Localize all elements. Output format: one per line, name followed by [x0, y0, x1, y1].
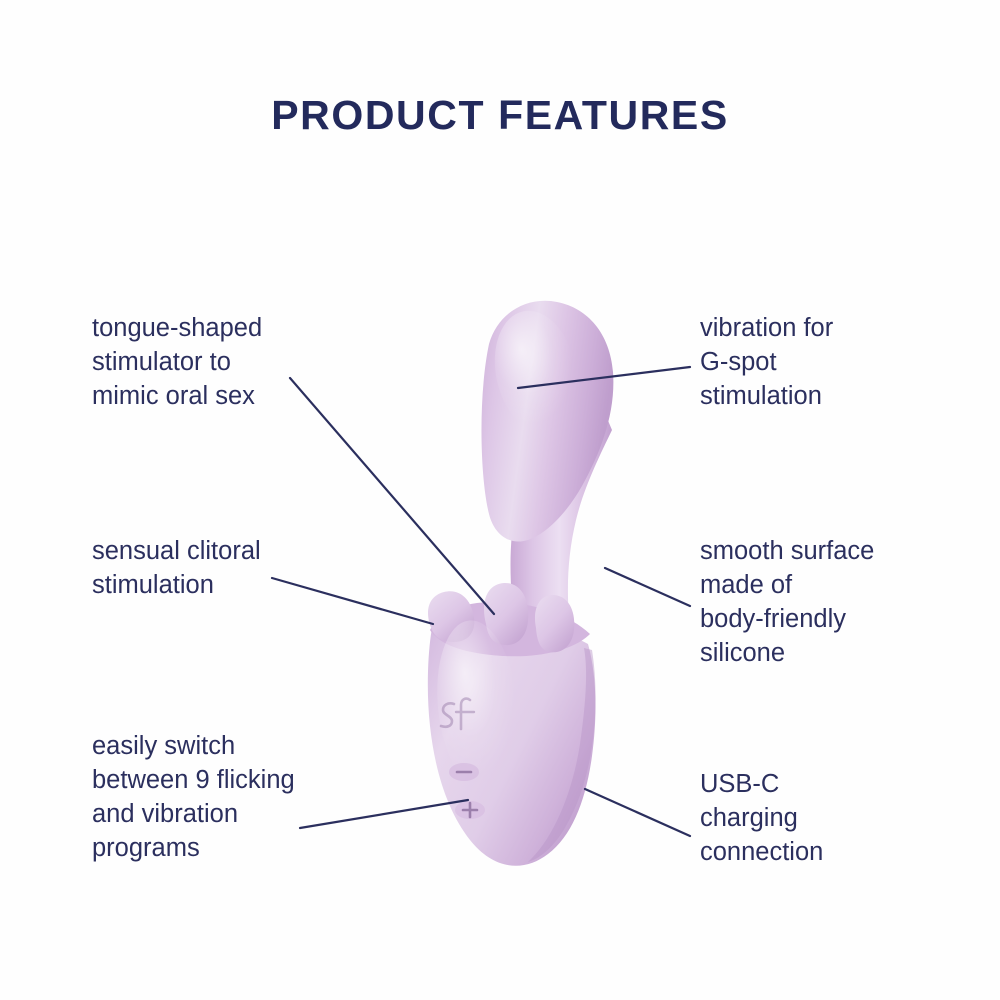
product-features-infographic: PRODUCT FEATURES	[0, 0, 1000, 1000]
feature-label-clitoral-stimulation: sensual clitoral stimulation	[92, 535, 332, 603]
feature-label-silicone-surface: smooth surface made of body-friendly sil…	[700, 535, 935, 671]
leader-usb-c	[585, 789, 690, 836]
feature-label-flicking-vibration-programs: easily switch between 9 flicking and vib…	[92, 730, 364, 866]
control-plus-button[interactable]	[455, 801, 485, 819]
control-minus-button[interactable]	[449, 763, 479, 781]
feature-label-tongue-stimulator: tongue-shaped stimulator to mimic oral s…	[92, 312, 342, 414]
feature-label-usb-c-charging: USB-C charging connection	[700, 768, 920, 870]
product-body	[428, 301, 614, 866]
feature-label-g-spot-vibration: vibration for G-spot stimulation	[700, 312, 930, 414]
leader-silicone	[605, 568, 690, 606]
